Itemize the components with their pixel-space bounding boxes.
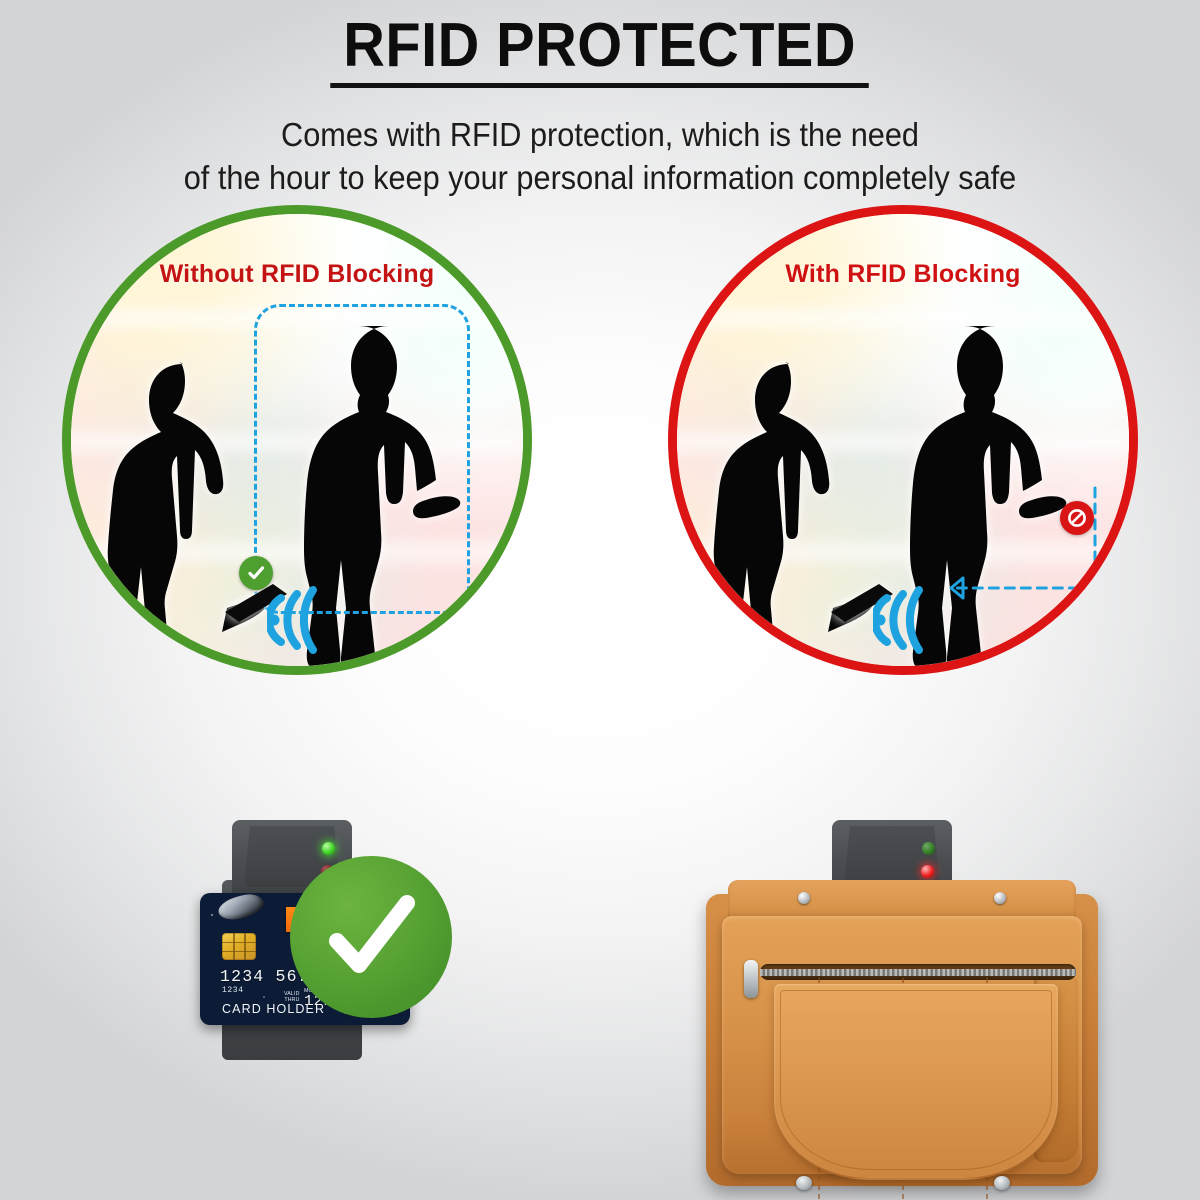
zipper-pull-icon[interactable] — [744, 960, 758, 998]
green-led — [922, 842, 935, 855]
bag-rivet — [798, 892, 810, 904]
rfid-wave-icon — [267, 582, 337, 661]
tan-leather-bag — [706, 876, 1098, 1192]
bag-foot — [796, 1176, 812, 1190]
green-led — [322, 842, 335, 855]
bag-zipper — [760, 964, 1076, 980]
bag-foot — [994, 1176, 1010, 1190]
bag-rivet — [994, 892, 1006, 904]
rfid-wave-icon — [873, 582, 943, 661]
panel-without-rfid-blocking: Without RFID Blocking — [62, 205, 532, 675]
header: RFID PROTECTED Comes with RFID protectio… — [0, 14, 1200, 200]
zipper-teeth — [760, 969, 1076, 976]
card-holder-name: CARD HOLDER — [222, 1002, 325, 1016]
subtitle-line-2: of the hour to keep your personal inform… — [42, 157, 1158, 200]
mini-ban-icon — [1060, 501, 1094, 535]
scene-circle-green: Without RFID Blocking — [62, 205, 532, 675]
scene-circle-red: With RFID Blocking — [668, 205, 1138, 675]
page-title: RFID PROTECTED — [331, 14, 870, 88]
panel-label-with: With RFID Blocking — [677, 260, 1129, 289]
panel-label-without: Without RFID Blocking — [71, 260, 523, 289]
page-subtitle: Comes with RFID protection, which is the… — [42, 114, 1158, 200]
check-badge — [290, 856, 452, 1018]
bag-main-body — [722, 916, 1082, 1174]
subtitle-line-1: Comes with RFID protection, which is the… — [42, 114, 1158, 157]
panel-with-rfid-blocking: With RFID Blocking — [668, 205, 1138, 675]
emv-chip-icon — [222, 933, 256, 960]
rfid-range-dashed-box — [254, 304, 470, 614]
bag-front-flap-pocket — [774, 984, 1058, 1180]
check-icon — [317, 883, 425, 991]
card-number-small: 1234 — [222, 986, 244, 995]
rfid-infographic: RFID PROTECTED Comes with RFID protectio… — [0, 0, 1200, 1200]
